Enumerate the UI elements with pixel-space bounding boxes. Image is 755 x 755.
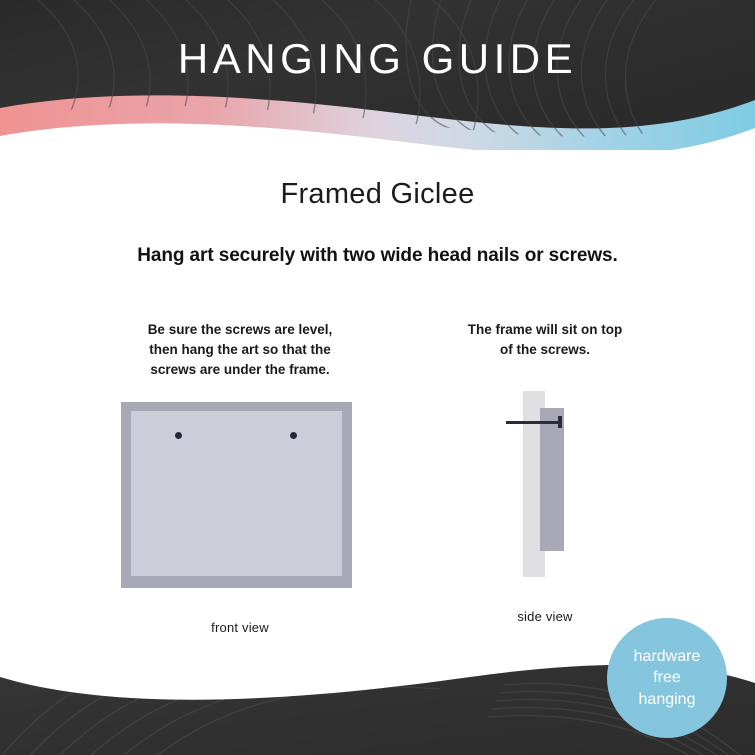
front-view-column: Be sure the screws are level, then hang … bbox=[90, 320, 390, 635]
side-view-diagram bbox=[420, 391, 670, 601]
screw-head-left-icon bbox=[175, 432, 182, 439]
side-view-column: The frame will sit on top of the screws.… bbox=[420, 320, 670, 624]
hardware-free-badge: hardware free hanging bbox=[607, 618, 727, 738]
screw-shaft-icon bbox=[506, 421, 562, 424]
front-view-instruction-line-1: Be sure the screws are level, bbox=[90, 320, 390, 340]
badge-line-3: hanging bbox=[639, 689, 696, 710]
side-view-instruction-line-1: The frame will sit on top bbox=[420, 320, 670, 340]
front-view-instruction-line-2: then hang the art so that the bbox=[90, 340, 390, 360]
front-view-diagram bbox=[90, 402, 390, 612]
side-view-frame bbox=[540, 408, 564, 551]
side-view-caption: side view bbox=[420, 609, 670, 624]
header-band: HANGING GUIDE bbox=[0, 0, 755, 150]
lead-instruction: Hang art securely with two wide head nai… bbox=[0, 245, 755, 267]
screw-head-icon bbox=[558, 416, 562, 428]
side-view-instructions: The frame will sit on top of the screws. bbox=[420, 320, 670, 360]
main-content: Framed Giclee Hang art securely with two… bbox=[0, 150, 755, 650]
hanging-guide-page: HANGING GUIDE Framed Giclee Hang art sec… bbox=[0, 0, 755, 755]
front-view-instruction-line-3: screws are under the frame. bbox=[90, 360, 390, 380]
front-view-artwork-mat bbox=[131, 411, 342, 576]
badge-line-2: free bbox=[653, 667, 681, 688]
product-title: Framed Giclee bbox=[0, 178, 755, 211]
front-view-instructions: Be sure the screws are level, then hang … bbox=[90, 320, 390, 380]
screw-head-right-icon bbox=[290, 432, 297, 439]
side-view-instruction-line-2: of the screws. bbox=[420, 340, 670, 360]
badge-line-1: hardware bbox=[634, 646, 701, 667]
